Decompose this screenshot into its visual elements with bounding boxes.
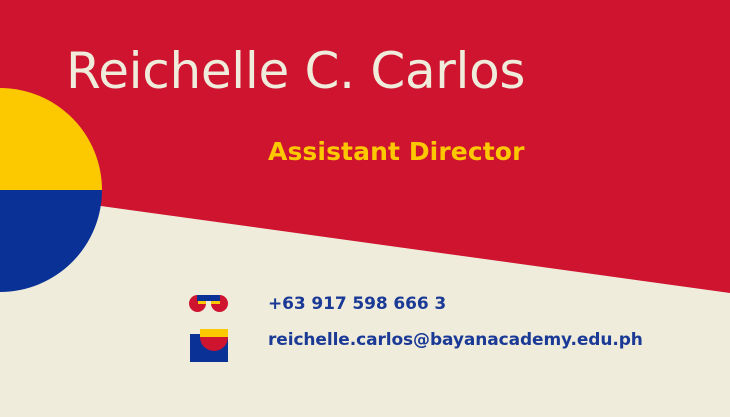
contact-row-phone[interactable]: +63 917 598 666 3 xyxy=(188,286,643,322)
email-icon xyxy=(188,325,230,355)
half-circle-yellow-segment xyxy=(0,88,102,190)
brand-half-circle-mark xyxy=(0,88,102,292)
job-title: Assistant Director xyxy=(268,138,525,166)
email-icon-top-bar xyxy=(200,329,228,337)
email-address-text[interactable]: reichelle.carlos@bayanacademy.edu.ph xyxy=(268,330,643,350)
phone-number-text[interactable]: +63 917 598 666 3 xyxy=(268,294,446,314)
phone-icon xyxy=(188,289,230,319)
business-card: Reichelle C. Carlos Assistant Director +… xyxy=(0,0,730,417)
phone-icon-bar xyxy=(197,295,220,301)
half-circle-blue-segment xyxy=(0,190,102,292)
person-name: Reichelle C. Carlos xyxy=(66,44,525,98)
contact-row-email[interactable]: reichelle.carlos@bayanacademy.edu.ph xyxy=(188,322,643,358)
contact-list: +63 917 598 666 3 reichelle.carlos@bayan… xyxy=(188,286,643,358)
